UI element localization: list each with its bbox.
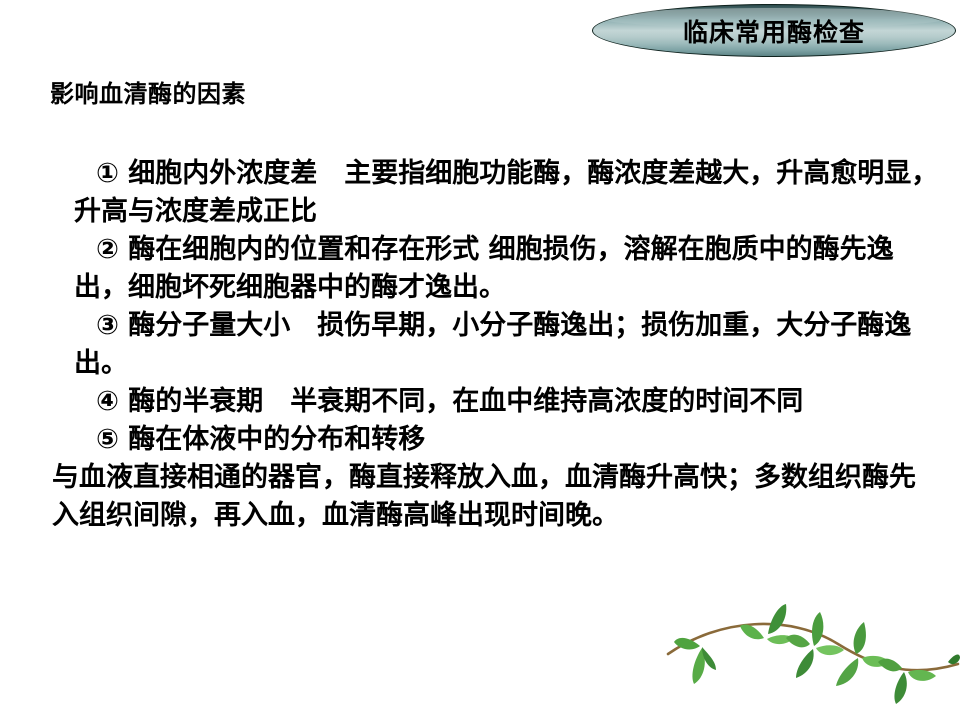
- list-item: ③ 酶分子量大小 损伤早期，小分子酶逸出；损伤加重，大分子酶逸出。: [52, 307, 942, 383]
- list-item: ⑤ 酶在体液中的分布和转移: [52, 421, 942, 459]
- list-item: ② 酶在细胞内的位置和存在形式 细胞损伤，溶解在胞质中的酶先逸出，细胞坏死细胞器…: [52, 231, 942, 307]
- list-item: ④ 酶的半衰期 半衰期不同，在血中维持高浓度的时间不同: [52, 383, 942, 421]
- list-item: ① 细胞内外浓度差 主要指细胞功能酶，酶浓度差越大，升高愈明显，升高与浓度差成正…: [52, 155, 942, 231]
- slide-title-banner: 临床常用酶检查: [592, 4, 956, 57]
- body-text-block: ① 细胞内外浓度差 主要指细胞功能酶，酶浓度差越大，升高愈明显，升高与浓度差成正…: [52, 155, 942, 535]
- slide-canvas: 临床常用酶检查 影响血清酶的因素 ① 细胞内外浓度差 主要指细胞功能酶，酶浓度差…: [0, 0, 960, 720]
- list-item: 与血液直接相通的器官，酶直接释放入血，血清酶升高快；多数组织酶先入组织间隙，再入…: [52, 459, 942, 535]
- page-title: 影响血清酶的因素: [50, 74, 246, 109]
- vine-leaves-icon: [660, 592, 960, 720]
- vine-decoration: [660, 592, 960, 720]
- banner-title-text: 临床常用酶检查: [592, 4, 956, 57]
